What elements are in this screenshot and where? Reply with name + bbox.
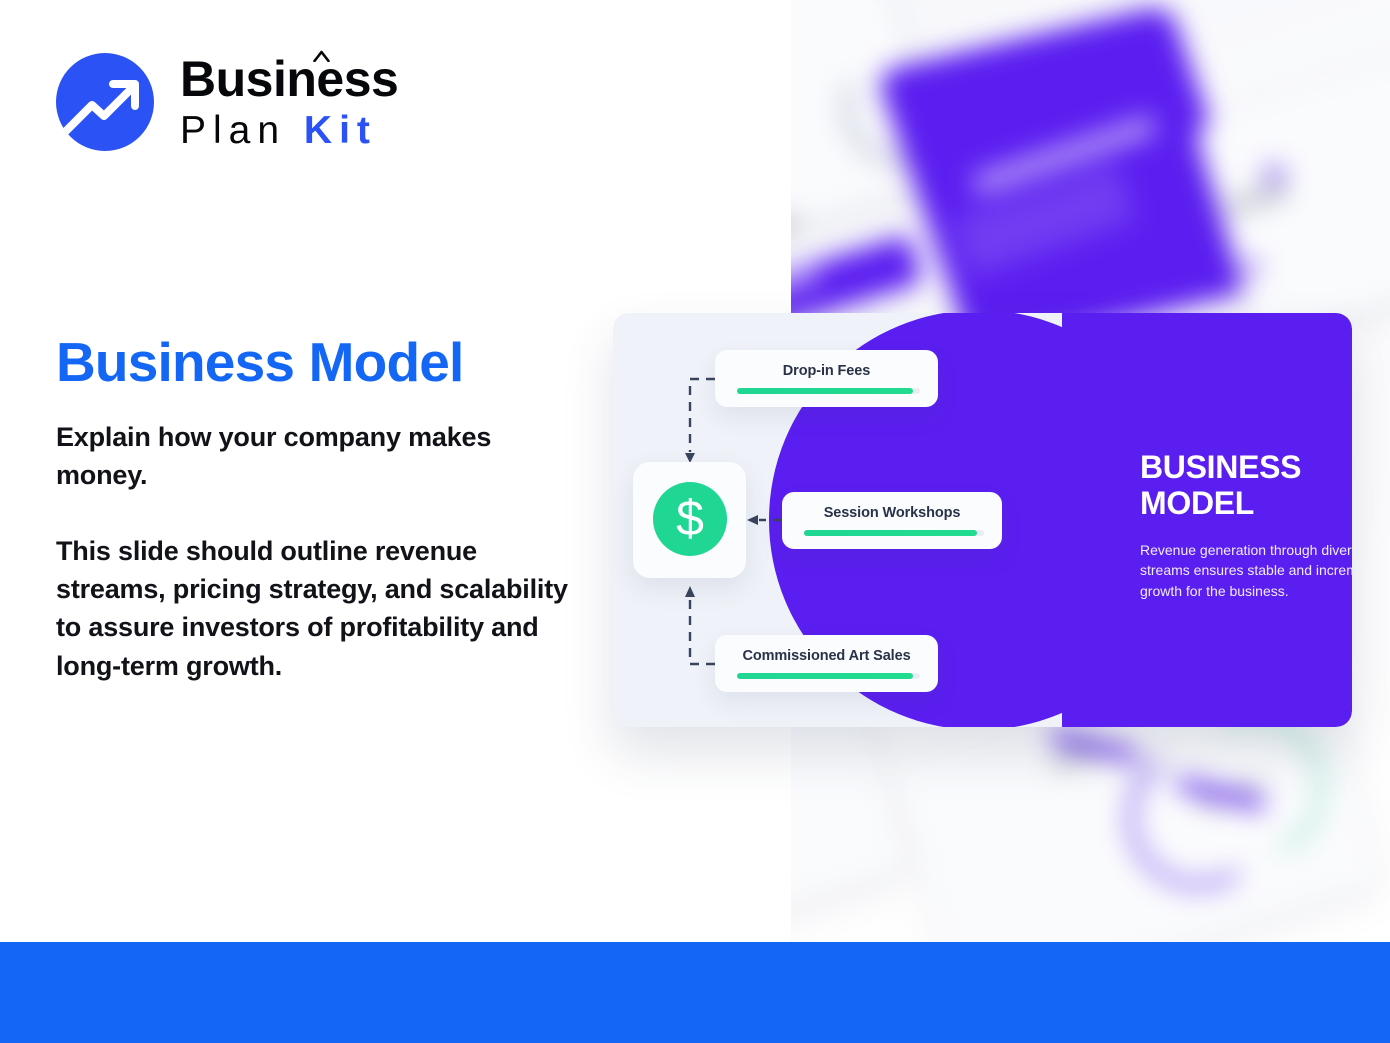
business-model-preview-card: BUSINESS MODEL Revenue generation throug… [613, 313, 1352, 727]
description-paragraph-2: This slide should outline revenue stream… [56, 532, 576, 685]
dollar-sign-icon: $ [653, 482, 727, 556]
revenue-hub: $ [633, 462, 746, 578]
stream-progress-track [737, 673, 920, 679]
stream-progress-fill [804, 530, 977, 536]
revenue-stream-card[interactable]: Commissioned Art Sales [715, 635, 938, 692]
growth-arrow-icon [56, 53, 154, 151]
stream-progress-fill [737, 673, 913, 679]
bg-dot-1 [1263, 164, 1285, 186]
revenue-stream-card[interactable]: Drop-in Fees [715, 350, 938, 407]
description-paragraph-1: Explain how your company makes money. [56, 418, 576, 495]
dollar-glyph: $ [676, 493, 704, 543]
stream-label: Session Workshops [782, 505, 1002, 521]
circumflex-accent-icon [313, 50, 330, 62]
brand-line-business: Business [180, 54, 398, 104]
page-title: Business Model [56, 334, 464, 392]
brand-line-plan-kit: Plan Kit [180, 111, 398, 150]
bg-dot-2 [1243, 258, 1261, 276]
stream-progress-track [737, 388, 920, 394]
slide-description: Explain how your company makes money. Th… [56, 418, 576, 685]
stream-label: Commissioned Art Sales [715, 648, 938, 664]
stream-label: Drop-in Fees [715, 363, 938, 379]
brand-kit-text: Kit [304, 109, 377, 152]
brand-line1-text: Business [180, 51, 398, 107]
revenue-stream-card[interactable]: Session Workshops [782, 492, 1002, 549]
stream-progress-track [804, 530, 984, 536]
brand-wordmark: Business Plan Kit [180, 54, 398, 150]
brand-plan-text: Plan [180, 109, 286, 152]
footer-accent-bar [0, 942, 1390, 1043]
brand-logo: Business Plan Kit [56, 53, 398, 151]
stream-progress-fill [737, 388, 913, 394]
